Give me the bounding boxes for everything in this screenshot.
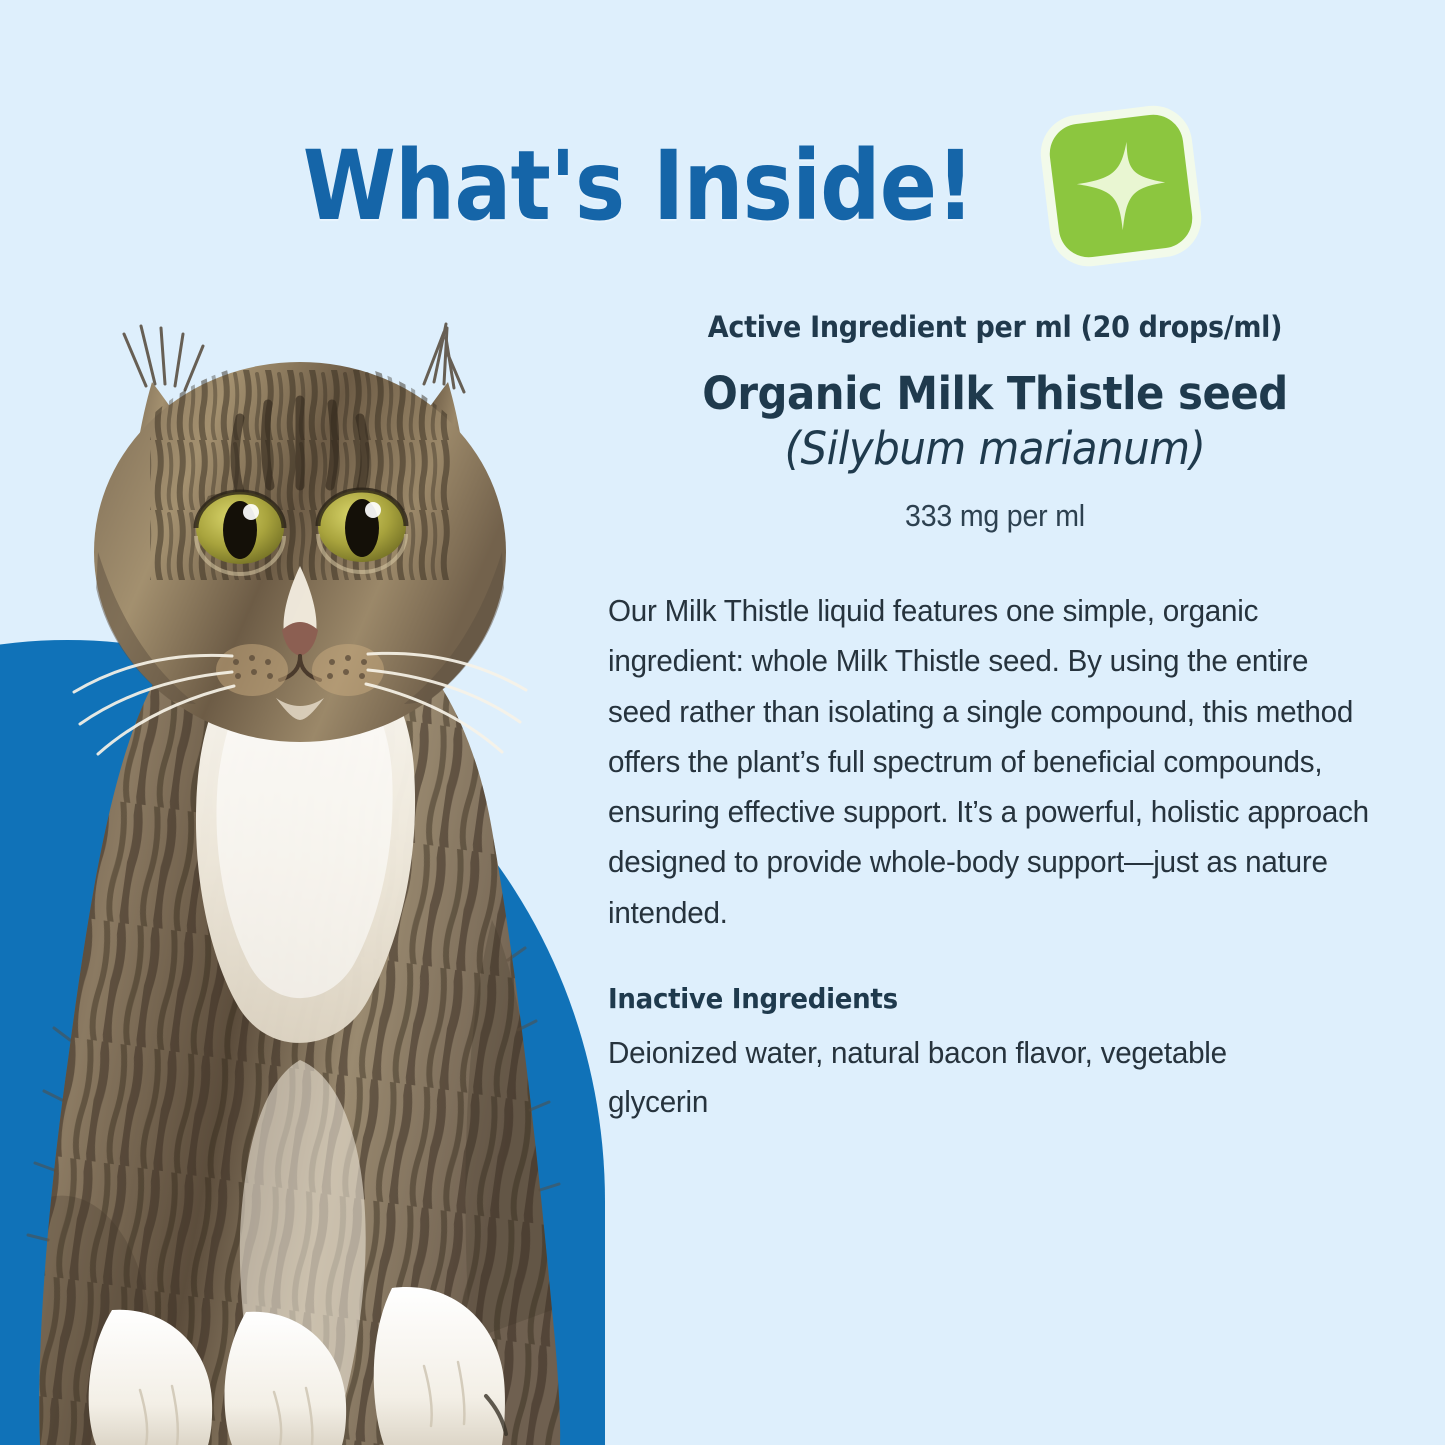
ingredient-latin-name: (Silybum marianum) [628,422,1363,476]
cat-photo-svg [0,300,600,1445]
sparkle-icon [1046,111,1195,260]
description-paragraph: Our Milk Thistle liquid features one sim… [608,586,1372,938]
cat-photo [0,300,600,1445]
page-title: What's Inside! [303,138,974,234]
infographic-page: What's Inside! [0,0,1445,1445]
cat-head [74,324,526,754]
header: What's Inside! [0,96,1445,276]
inactive-ingredients-heading: Inactive Ingredients [608,982,1335,1015]
dose-amount: 333 mg per ml [632,498,1359,534]
ingredient-panel: Active Ingredient per ml (20 drops/ml) O… [600,310,1390,1127]
sparkle-star-glyph [1075,140,1167,232]
active-ingredient-label: Active Ingredient per ml (20 drops/ml) [628,310,1363,344]
ingredient-name: Organic Milk Thistle seed [628,368,1363,420]
inactive-ingredients-list: Deionized water, natural bacon flavor, v… [608,1029,1277,1127]
